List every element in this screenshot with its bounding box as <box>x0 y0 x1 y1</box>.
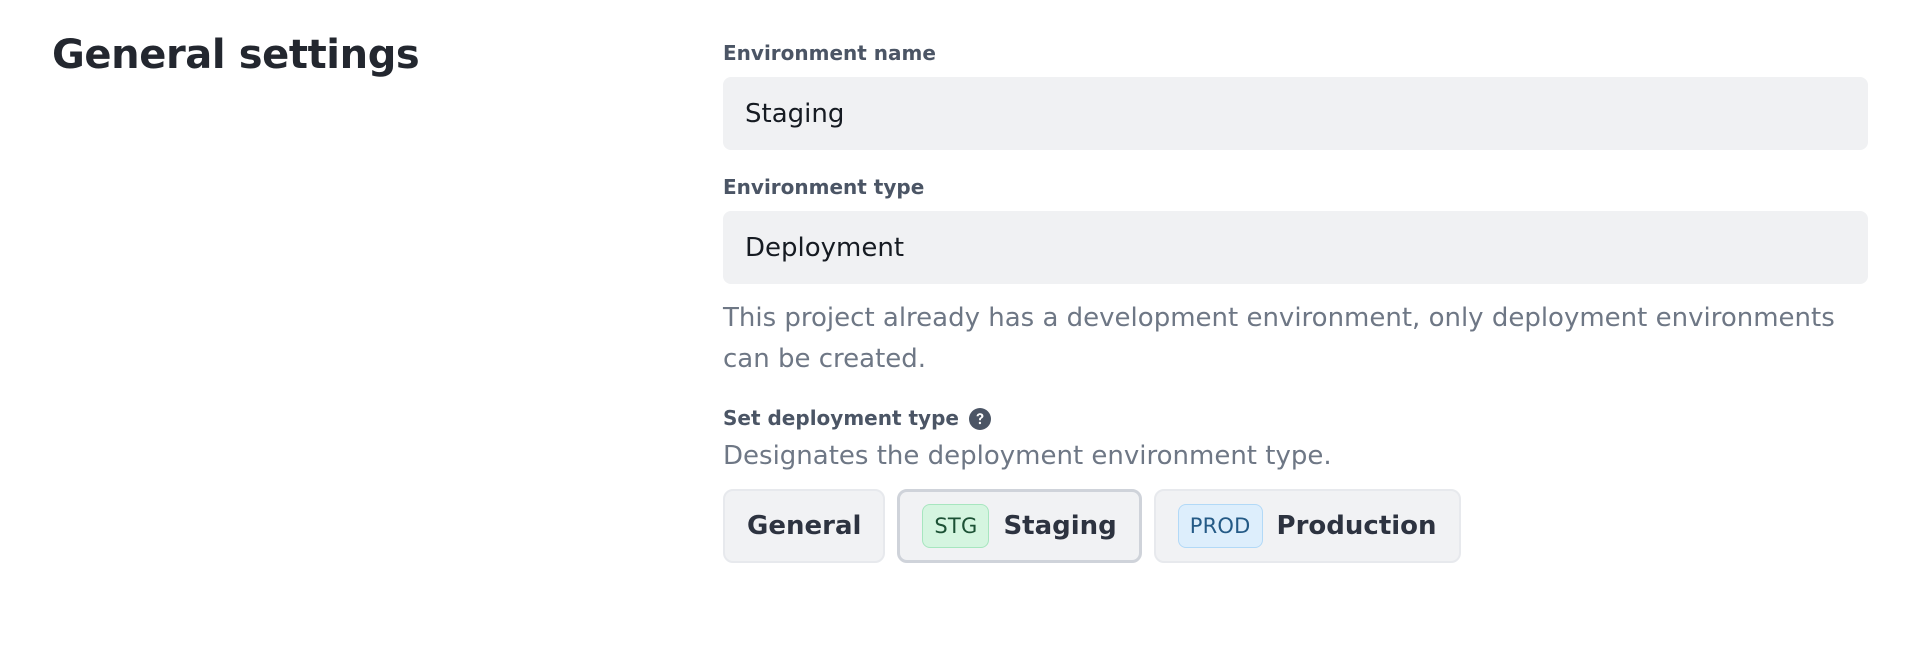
deployment-type-section: Set deployment type Designates the deplo… <box>723 405 1868 563</box>
deployment-type-option-production-label: Production <box>1277 511 1437 541</box>
deployment-type-description: Designates the deployment environment ty… <box>723 440 1868 472</box>
deployment-type-option-production[interactable]: PROD Production <box>1154 489 1461 563</box>
environment-type-label: Environment type <box>723 174 1868 200</box>
deployment-type-label: Set deployment type <box>723 405 959 431</box>
deployment-type-options: General STG Staging PROD Production <box>723 489 1868 563</box>
production-badge: PROD <box>1178 504 1263 548</box>
environment-name-input[interactable]: Staging <box>723 77 1868 150</box>
page-title: General settings <box>52 31 419 79</box>
general-settings-page: General settings Environment name Stagin… <box>0 0 1916 652</box>
deployment-type-option-staging-label: Staging <box>1003 511 1116 541</box>
staging-badge: STG <box>922 504 989 548</box>
environment-name-field-group: Environment name Staging <box>723 40 1868 150</box>
environment-type-input[interactable]: Deployment <box>723 211 1868 284</box>
deployment-type-option-staging[interactable]: STG Staging <box>897 489 1141 563</box>
environment-type-help-text: This project already has a development e… <box>723 298 1843 380</box>
field-spacer <box>723 150 1868 174</box>
deployment-type-option-general[interactable]: General <box>723 489 885 563</box>
deployment-type-label-row: Set deployment type <box>723 405 1868 431</box>
environment-name-label: Environment name <box>723 40 1868 66</box>
deployment-type-option-general-label: General <box>747 511 861 541</box>
environment-type-field-group: Environment type Deployment This project… <box>723 174 1868 380</box>
settings-form: Environment name Staging Environment typ… <box>723 40 1868 563</box>
question-mark-circle-icon[interactable] <box>969 408 991 430</box>
